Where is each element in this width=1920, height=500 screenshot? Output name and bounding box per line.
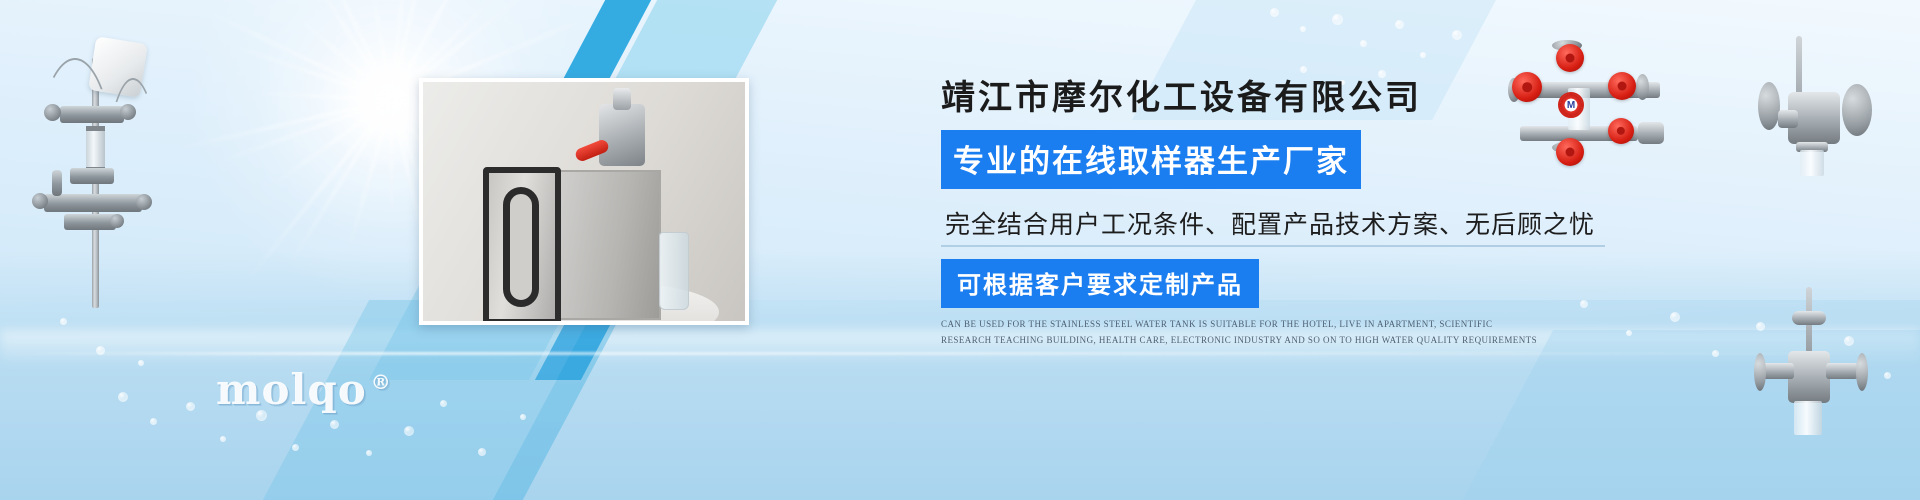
handwheel — [110, 214, 124, 228]
flange — [1758, 82, 1780, 130]
actuator-body — [1638, 122, 1664, 144]
brand-watermark: molqo® — [216, 365, 392, 414]
cta-row: 可根据客户要求定制产品 — [941, 259, 1641, 308]
promo-banner: M 靖江市摩尔化工设备有限公司 专业的在线取样器生产厂家 完全结合用户工况条件、… — [0, 0, 1920, 500]
flange — [1754, 353, 1766, 391]
photo-sample-bottle — [659, 232, 689, 310]
company-name: 靖江市摩尔化工设备有限公司 — [941, 80, 1641, 117]
handwheel — [32, 193, 48, 209]
left-product-sampler-image — [8, 18, 178, 308]
red-handwheel — [1556, 44, 1584, 72]
photo-cabinet-body — [551, 170, 661, 320]
headline-row: 专业的在线取样器生产厂家 — [941, 130, 1641, 189]
flex-tube — [104, 78, 162, 198]
cta-badge[interactable]: 可根据客户要求定制产品 — [941, 259, 1259, 308]
photo-cabinet-door — [483, 167, 561, 325]
subline-text: 完全结合用户工况条件、配置产品技术方案、无后顾之忧 — [941, 202, 1605, 247]
registered-mark-icon: ® — [371, 370, 392, 394]
pipe-run — [1826, 363, 1858, 379]
center-product-photo — [419, 78, 749, 325]
water-surface-line — [0, 352, 1920, 355]
pipe-run — [1762, 363, 1794, 379]
subline-row: 完全结合用户工况条件、配置产品技术方案、无后顾之忧 — [941, 202, 1641, 247]
valve-body — [64, 214, 116, 230]
photo-valve-assembly — [599, 104, 645, 166]
flange — [1856, 353, 1868, 391]
banner-copy-block: 靖江市摩尔化工设备有限公司 专业的在线取样器生产厂家 完全结合用户工况条件、配置… — [941, 80, 1641, 349]
english-description: CAN BE USED FOR THE STAINLESS STEEL WATE… — [941, 317, 1541, 349]
photo-valve-stem — [613, 88, 631, 110]
headline-badge: 专业的在线取样器生产厂家 — [941, 130, 1361, 189]
brand-watermark-text: molqo — [216, 365, 367, 414]
sample-vial — [1800, 150, 1824, 176]
bonnet-nut — [1792, 311, 1826, 325]
right-product-lever-valve-image — [1742, 28, 1907, 208]
sample-vial — [1794, 401, 1822, 435]
right-product-gate-valve-image — [1752, 285, 1902, 455]
flange — [1842, 84, 1872, 136]
valve-body — [1788, 351, 1830, 403]
photo-door-window — [503, 187, 539, 307]
drain-port — [1778, 110, 1798, 128]
